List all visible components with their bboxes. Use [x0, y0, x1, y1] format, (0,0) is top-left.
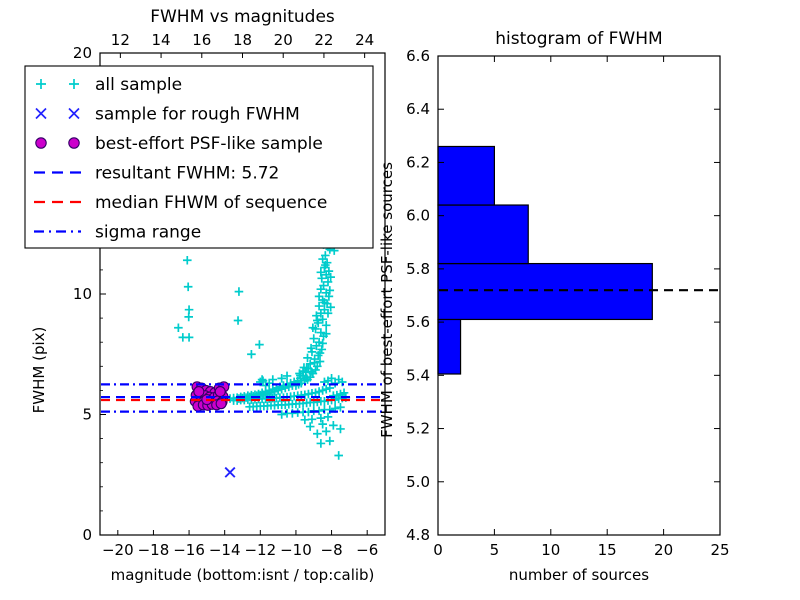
- chart-svg: −20−18−16−14−12−10−8−6121416182022240510…: [0, 0, 800, 600]
- left-top-xticklabel: 18: [233, 31, 252, 49]
- right-yticklabel: 6.2: [406, 153, 430, 171]
- histogram-bar: [438, 319, 461, 374]
- legend-label: best-effort PSF-like sample: [95, 134, 323, 154]
- right-yticklabel: 6.4: [406, 100, 430, 118]
- left-xticklabel: −12: [244, 541, 276, 559]
- circle-marker: [194, 387, 204, 397]
- legend-box: [25, 66, 373, 248]
- legend-label: all sample: [95, 75, 182, 95]
- right-yticklabel: 5.6: [406, 313, 430, 331]
- left-yticklabel: 5: [82, 406, 92, 424]
- histogram-bar: [438, 205, 528, 264]
- left-top-xticklabel: 22: [314, 31, 333, 49]
- left-yticklabel: 20: [73, 44, 92, 62]
- left-xticklabel: −18: [138, 541, 170, 559]
- right-yticklabel: 4.8: [406, 526, 430, 544]
- left-top-xticklabel: 16: [192, 31, 211, 49]
- left-xticklabel: −14: [209, 541, 241, 559]
- left-yticklabel: 10: [73, 285, 92, 303]
- left-yticklabel: 0: [82, 526, 92, 544]
- right-yticklabel: 6.0: [406, 207, 430, 225]
- histogram-bar: [438, 146, 494, 205]
- right-xticklabel: 25: [710, 541, 729, 559]
- left-top-xticklabel: 12: [111, 31, 130, 49]
- chart-legend: all samplesample for rough FWHMbest-effo…: [25, 66, 373, 248]
- right-panel-ylabel: FWHM of best-effort PSF-like sources: [378, 162, 396, 438]
- right-xticklabel: 20: [654, 541, 673, 559]
- right-xticklabel: 10: [541, 541, 560, 559]
- left-xticklabel: −16: [173, 541, 205, 559]
- right-yticklabel: 5.0: [406, 473, 430, 491]
- figure-canvas: −20−18−16−14−12−10−8−6121416182022240510…: [0, 0, 800, 600]
- right-yticklabel: 5.8: [406, 260, 430, 278]
- legend-label: sigma range: [95, 223, 201, 243]
- circle-marker: [215, 387, 225, 397]
- legend-label: resultant FWHM: 5.72: [95, 164, 279, 184]
- legend-label: sample for rough FWHM: [95, 105, 300, 125]
- left-panel-xlabel: magnitude (bottom:isnt / top:calib): [111, 566, 375, 584]
- histogram-bar: [438, 264, 652, 320]
- right-yticklabel: 5.4: [406, 366, 430, 384]
- left-top-xticklabel: 24: [355, 31, 374, 49]
- right-yticklabel: 5.2: [406, 420, 430, 438]
- circle-icon: [36, 138, 46, 148]
- right-panel-title: histogram of FWHM: [495, 29, 662, 49]
- left-top-xticklabel: 14: [152, 31, 171, 49]
- legend-label: median FHWM of sequence: [95, 193, 327, 213]
- left-xticklabel: −6: [356, 541, 378, 559]
- left-xticklabel: −8: [321, 541, 343, 559]
- right-yticklabel: 6.6: [406, 47, 430, 65]
- left-panel-ylabel: FWHM (pix): [30, 327, 48, 414]
- right-panel-xlabel: number of sources: [509, 566, 649, 584]
- left-xticklabel: −20: [102, 541, 134, 559]
- right-xticklabel: 15: [598, 541, 617, 559]
- circle-icon: [69, 138, 79, 148]
- left-top-xticklabel: 20: [274, 31, 293, 49]
- right-xticklabel: 0: [433, 541, 443, 559]
- right-xticklabel: 5: [490, 541, 500, 559]
- left-panel-title: FWHM vs magnitudes: [150, 7, 335, 27]
- left-xticklabel: −10: [280, 541, 312, 559]
